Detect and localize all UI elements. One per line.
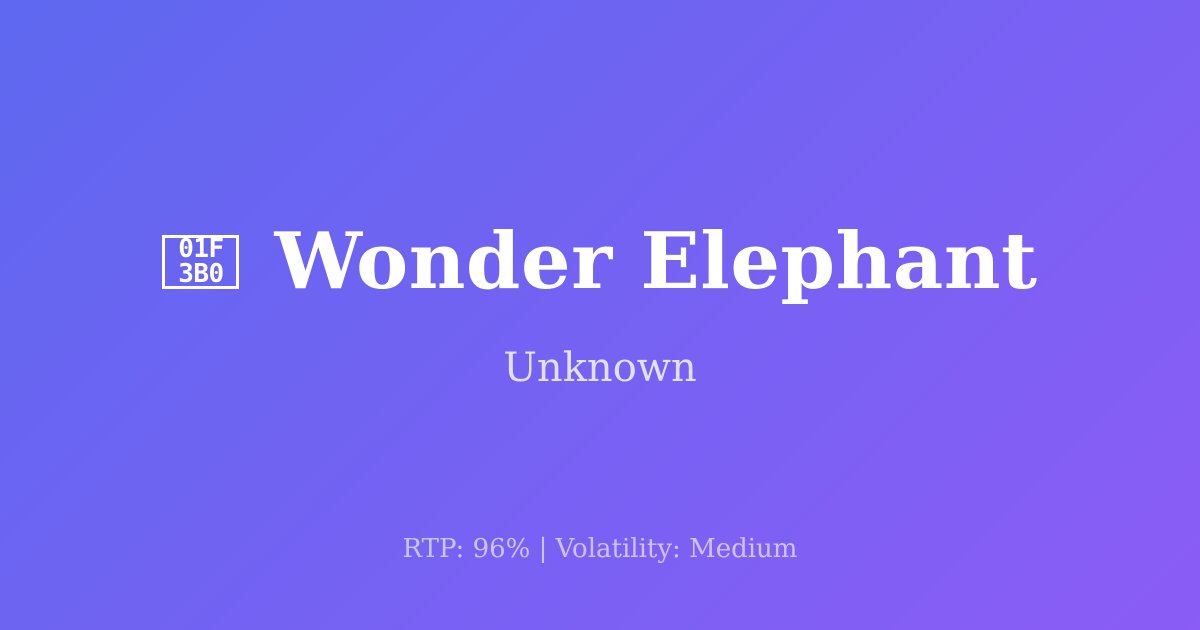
title-row: 01F 3B0 Wonder Elephant (0, 222, 1200, 302)
slot-machine-emoji-missing-glyph-icon: 01F 3B0 (162, 235, 239, 289)
page-subtitle: Unknown (503, 346, 697, 390)
missing-glyph-codepoint-bottom: 3B0 (178, 262, 223, 287)
page-title: Wonder Elephant (274, 222, 1037, 302)
og-preview-card: 01F 3B0 Wonder Elephant Unknown RTP: 96%… (0, 0, 1200, 630)
hero-block: 01F 3B0 Wonder Elephant Unknown (0, 222, 1200, 390)
game-meta-line: RTP: 96% | Volatility: Medium (403, 534, 798, 564)
footer: RTP: 96% | Volatility: Medium (0, 535, 1200, 564)
